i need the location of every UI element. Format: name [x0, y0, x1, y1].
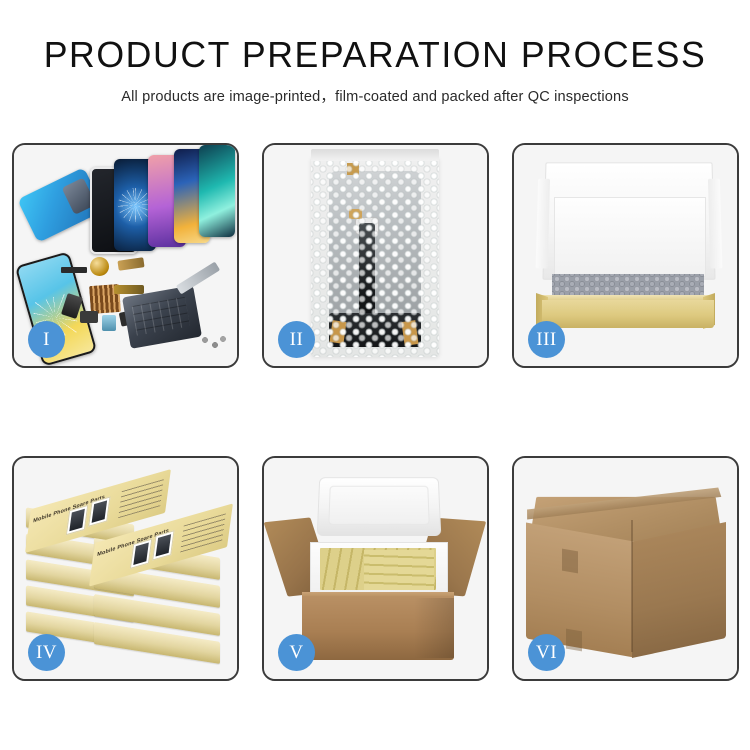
box-tray-front — [542, 300, 714, 328]
box-product-thumb-b — [88, 496, 110, 526]
flex-cable-part-b — [114, 285, 144, 294]
carton-tab-upper — [562, 549, 578, 574]
box-spec-lines-back — [118, 479, 164, 518]
box-product-thumb-c — [130, 539, 152, 569]
step-badge-1: I — [28, 321, 65, 358]
box-product-thumb-d — [152, 530, 174, 560]
flex-cable-part-a — [117, 257, 144, 271]
battery-connector-part — [61, 267, 87, 273]
step-badge-2: II — [278, 321, 315, 358]
spare-part-b — [80, 311, 98, 323]
step-badge-5: V — [278, 634, 315, 671]
process-step-grid: I II — [12, 143, 738, 681]
page-header: PRODUCT PREPARATION PROCESS All products… — [0, 0, 750, 106]
process-step-panel-3[interactable]: III — [512, 143, 739, 368]
page-title: PRODUCT PREPARATION PROCESS — [4, 0, 747, 74]
logic-board-part — [122, 285, 202, 349]
spare-part-c — [102, 315, 116, 331]
teal-gradient-phone — [199, 145, 235, 237]
sealed-carton-right-face — [632, 522, 726, 658]
process-step-panel-6[interactable]: VI — [512, 456, 739, 681]
white-foam-sheet — [554, 197, 706, 277]
box-product-thumb-a — [66, 505, 88, 535]
bubble-wrap-bag — [311, 157, 439, 357]
carton-tab-lower — [566, 629, 582, 652]
bag-seal-strip — [311, 149, 439, 161]
process-step-panel-2[interactable]: II — [262, 143, 489, 368]
sealed-carton-corner-seam — [631, 520, 633, 652]
bubble-texture — [311, 157, 439, 357]
yellow-boxes-row-b — [364, 550, 434, 590]
process-step-panel-5[interactable]: V — [262, 456, 489, 681]
step-badge-3: III — [528, 321, 565, 358]
box-spec-lines-front — [180, 513, 226, 552]
step-badge-6: VI — [528, 634, 565, 671]
vibration-motor-part — [90, 257, 109, 276]
screws-group — [201, 336, 227, 352]
process-step-panel-4[interactable]: Mobile Phone Spare Parts Mobile Phone Sp… — [12, 456, 239, 681]
foam-cooler-lid — [317, 477, 442, 536]
step-badge-4: IV — [28, 634, 65, 671]
process-step-panel-1[interactable]: I — [12, 143, 239, 368]
tweezers-tool — [176, 262, 220, 295]
page-subtitle: All products are image-printed，film-coat… — [0, 74, 750, 106]
carton-shadow — [414, 598, 454, 658]
